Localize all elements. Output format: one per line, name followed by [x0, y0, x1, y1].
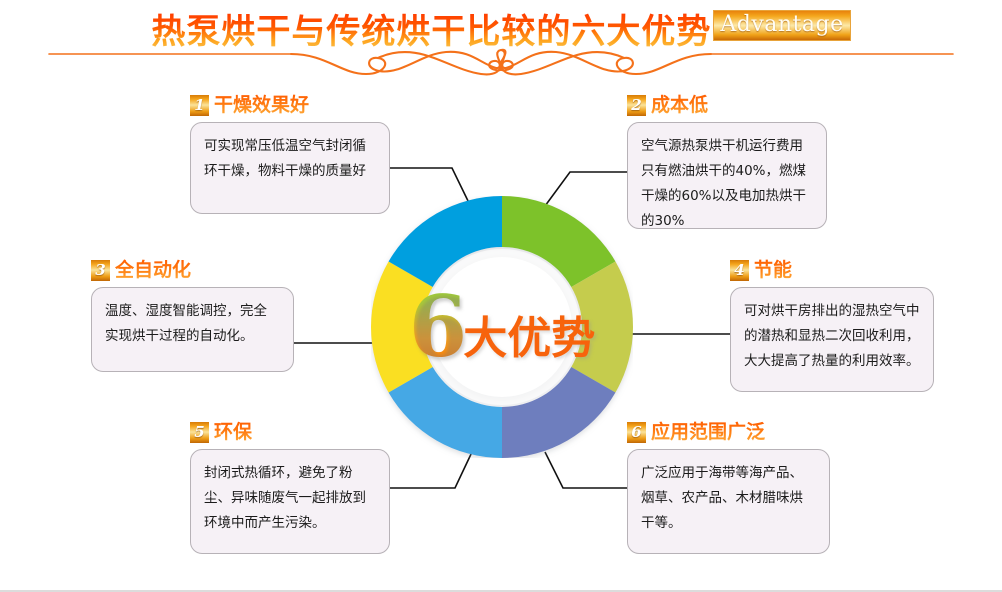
advantage-item-2: 2成本低 空气源热泵烘干机运行费用只有燃油烘干的40%，燃煤干燥的60%以及电加… [627, 93, 827, 229]
advantage-card-5: 封闭式热循环，避免了粉尘、异味随废气一起排放到环境中而产生污染。 [190, 449, 390, 554]
ornamental-divider-icon [41, 44, 961, 84]
advantage-body-4: 可对烘干房排出的湿热空气中的潜热和显热二次回收利用，大大提高了热量的利用效率。 [744, 299, 920, 374]
advantage-body-3: 温度、湿度智能调控，完全实现烘干过程的自动化。 [105, 299, 280, 349]
connector-3 [294, 327, 383, 343]
advantage-title-5: 环保 [214, 420, 252, 444]
number-badge-1: 1 [190, 95, 209, 116]
advantage-item-4: 4节能 可对烘干房排出的湿热空气中的潜热和显热二次回收利用，大大提高了热量的利用… [730, 258, 934, 392]
number-badge-4: 4 [730, 260, 749, 281]
advantage-item-5: 5环保 封闭式热循环，避免了粉尘、异味随废气一起排放到环境中而产生污染。 [190, 420, 390, 554]
advantage-title-4: 节能 [754, 258, 792, 282]
advantage-title-2: 成本低 [651, 93, 708, 117]
advantage-card-3: 温度、湿度智能调控，完全实现烘干过程的自动化。 [91, 287, 294, 372]
number-badge-3: 3 [91, 260, 110, 281]
advantage-title-6: 应用范围广泛 [651, 420, 765, 444]
advantage-card-6: 广泛应用于海带等海产品、烟草、农产品、木材腊味烘干等。 [627, 449, 830, 554]
number-badge-5: 5 [190, 422, 209, 443]
advantage-heading-2: 2成本低 [627, 93, 827, 117]
donut-chart: 6大优势 [371, 196, 633, 458]
number-badge-2: 2 [627, 95, 646, 116]
infographic-page: 热泵烘干与传统烘干比较的六大优势Advantage [0, 0, 1002, 592]
donut-center-label: 6大优势 [371, 196, 633, 458]
advantage-badge: Advantage [713, 10, 850, 41]
center-number: 6 [409, 277, 467, 376]
advantage-item-6: 6应用范围广泛 广泛应用于海带等海产品、烟草、农产品、木材腊味烘干等。 [627, 420, 830, 554]
center-text: 大优势 [463, 313, 595, 364]
advantage-body-2: 空气源热泵烘干机运行费用只有燃油烘干的40%，燃煤干燥的60%以及电加热烘干的3… [641, 134, 813, 234]
advantage-title-1: 干燥效果好 [214, 93, 309, 117]
advantage-item-3: 3全自动化 温度、湿度智能调控，完全实现烘干过程的自动化。 [91, 258, 294, 372]
advantage-heading-5: 5环保 [190, 420, 390, 444]
advantage-card-1: 可实现常压低温空气封闭循环干燥，物料干燥的质量好 [190, 122, 390, 214]
advantage-heading-1: 1干燥效果好 [190, 93, 390, 117]
advantage-heading-4: 4节能 [730, 258, 934, 282]
connector-4 [622, 327, 730, 334]
advantage-card-4: 可对烘干房排出的湿热空气中的潜热和显热二次回收利用，大大提高了热量的利用效率。 [730, 287, 934, 392]
advantage-item-1: 1干燥效果好 可实现常压低温空气封闭循环干燥，物料干燥的质量好 [190, 93, 390, 214]
advantage-heading-6: 6应用范围广泛 [627, 420, 830, 444]
advantage-body-1: 可实现常压低温空气封闭循环干燥，物料干燥的质量好 [204, 134, 376, 184]
advantage-heading-3: 3全自动化 [91, 258, 294, 282]
advantage-body-6: 广泛应用于海带等海产品、烟草、农产品、木材腊味烘干等。 [641, 461, 816, 536]
advantage-body-5: 封闭式热循环，避免了粉尘、异味随废气一起排放到环境中而产生污染。 [204, 461, 376, 536]
number-badge-6: 6 [627, 422, 646, 443]
advantage-card-2: 空气源热泵烘干机运行费用只有燃油烘干的40%，燃煤干燥的60%以及电加热烘干的3… [627, 122, 827, 229]
header: 热泵烘干与传统烘干比较的六大优势Advantage [0, 0, 1002, 84]
advantage-title-3: 全自动化 [115, 258, 191, 282]
